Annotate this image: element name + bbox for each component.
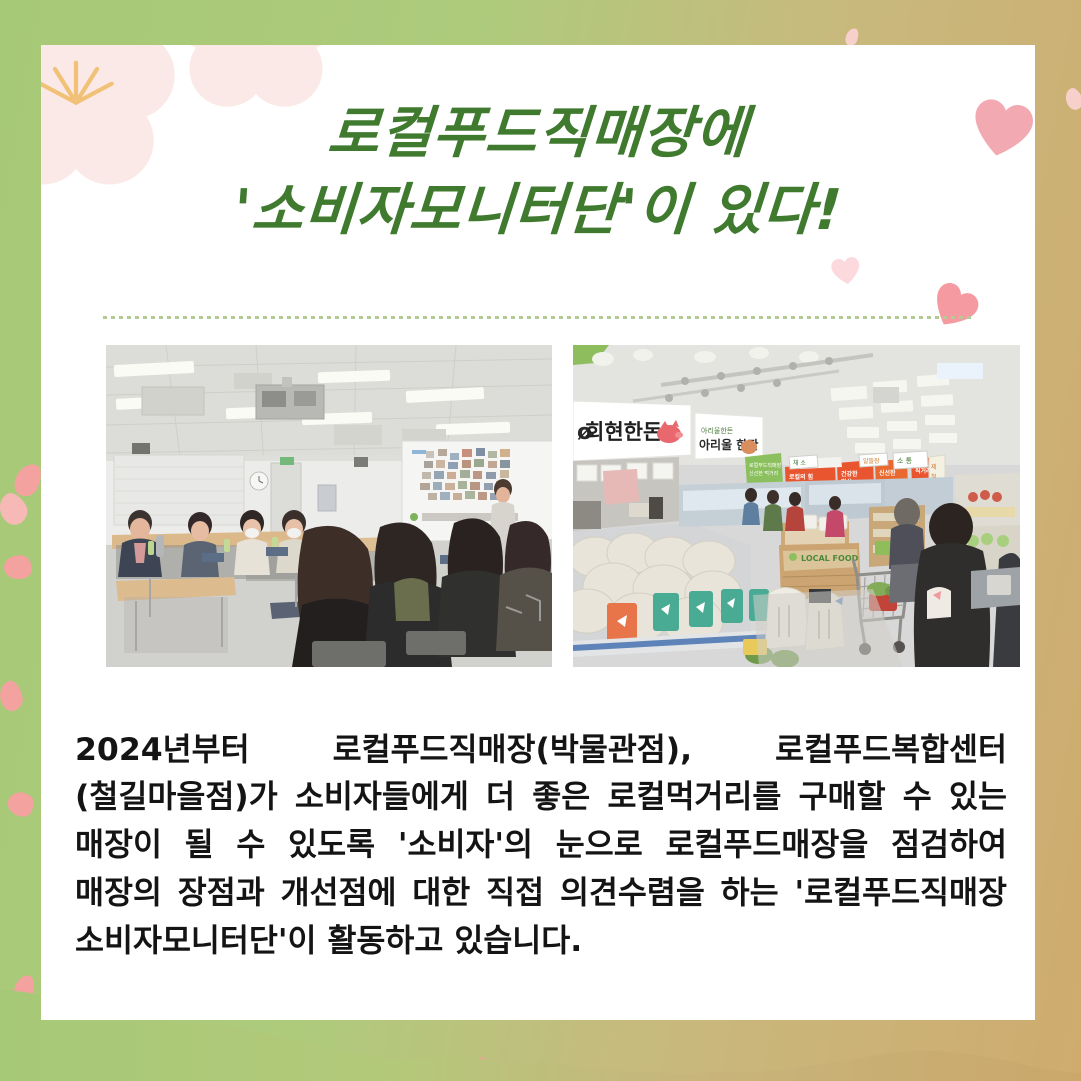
- poster-canvas: 로컬푸드직매장에 '소비자모니터단'이 있다!: [0, 0, 1081, 1081]
- petal-decoration: [0, 489, 32, 530]
- local-food-store-photo: ￉ø 회현한돈 아리울한돈 아리울 한잔: [573, 345, 1020, 667]
- svg-text:로컬의 힘: 로컬의 힘: [789, 473, 813, 481]
- svg-text:신선한: 신선한: [879, 469, 896, 477]
- heart-icon: [829, 255, 863, 287]
- petal-decoration: [11, 973, 37, 1008]
- photo-row: ￉ø 회현한돈 아리울한돈 아리울 한잔: [106, 345, 1020, 667]
- svg-text:제: 제: [931, 463, 937, 471]
- petal-decoration: [3, 787, 38, 822]
- svg-text:LOCAL FOOD: LOCAL FOOD: [801, 554, 859, 563]
- petal-decoration: [2, 553, 34, 581]
- title-block: 로컬푸드직매장에 '소비자모니터단'이 있다!: [41, 95, 1035, 250]
- svg-text:신선한 먹거리: 신선한 먹거리: [749, 470, 778, 477]
- svg-text:알뜰장: 알뜰장: [863, 457, 880, 465]
- petal-decoration: [470, 1056, 489, 1081]
- petal-decoration: [1062, 86, 1081, 112]
- svg-text:로컬푸드직매장: 로컬푸드직매장: [749, 462, 782, 469]
- title-line-2: '소비자모니터단'이 있다!: [41, 172, 1035, 249]
- body-paragraph: 2024년부터 로컬푸드직매장(박물관점), 로컬푸드복합센터(철길마을점)가 …: [75, 727, 1007, 966]
- svg-text:건강한: 건강한: [841, 470, 858, 478]
- white-card: 로컬푸드직매장에 '소비자모니터단'이 있다!: [41, 45, 1035, 1020]
- svg-text:회현한돈: 회현한돈: [585, 420, 662, 444]
- svg-text:아리울한돈: 아리울한돈: [701, 426, 734, 435]
- petal-decoration: [203, 1040, 238, 1078]
- petal-decoration: [101, 1034, 129, 1071]
- heart-icon: [923, 276, 985, 337]
- dotted-divider: [103, 316, 973, 319]
- svg-text:소 통: 소 통: [897, 457, 913, 465]
- svg-text:채 소: 채 소: [793, 459, 806, 467]
- petal-decoration: [0, 679, 25, 713]
- title-line-1: 로컬푸드직매장에: [41, 95, 1035, 172]
- meeting-room-photo: [106, 345, 552, 667]
